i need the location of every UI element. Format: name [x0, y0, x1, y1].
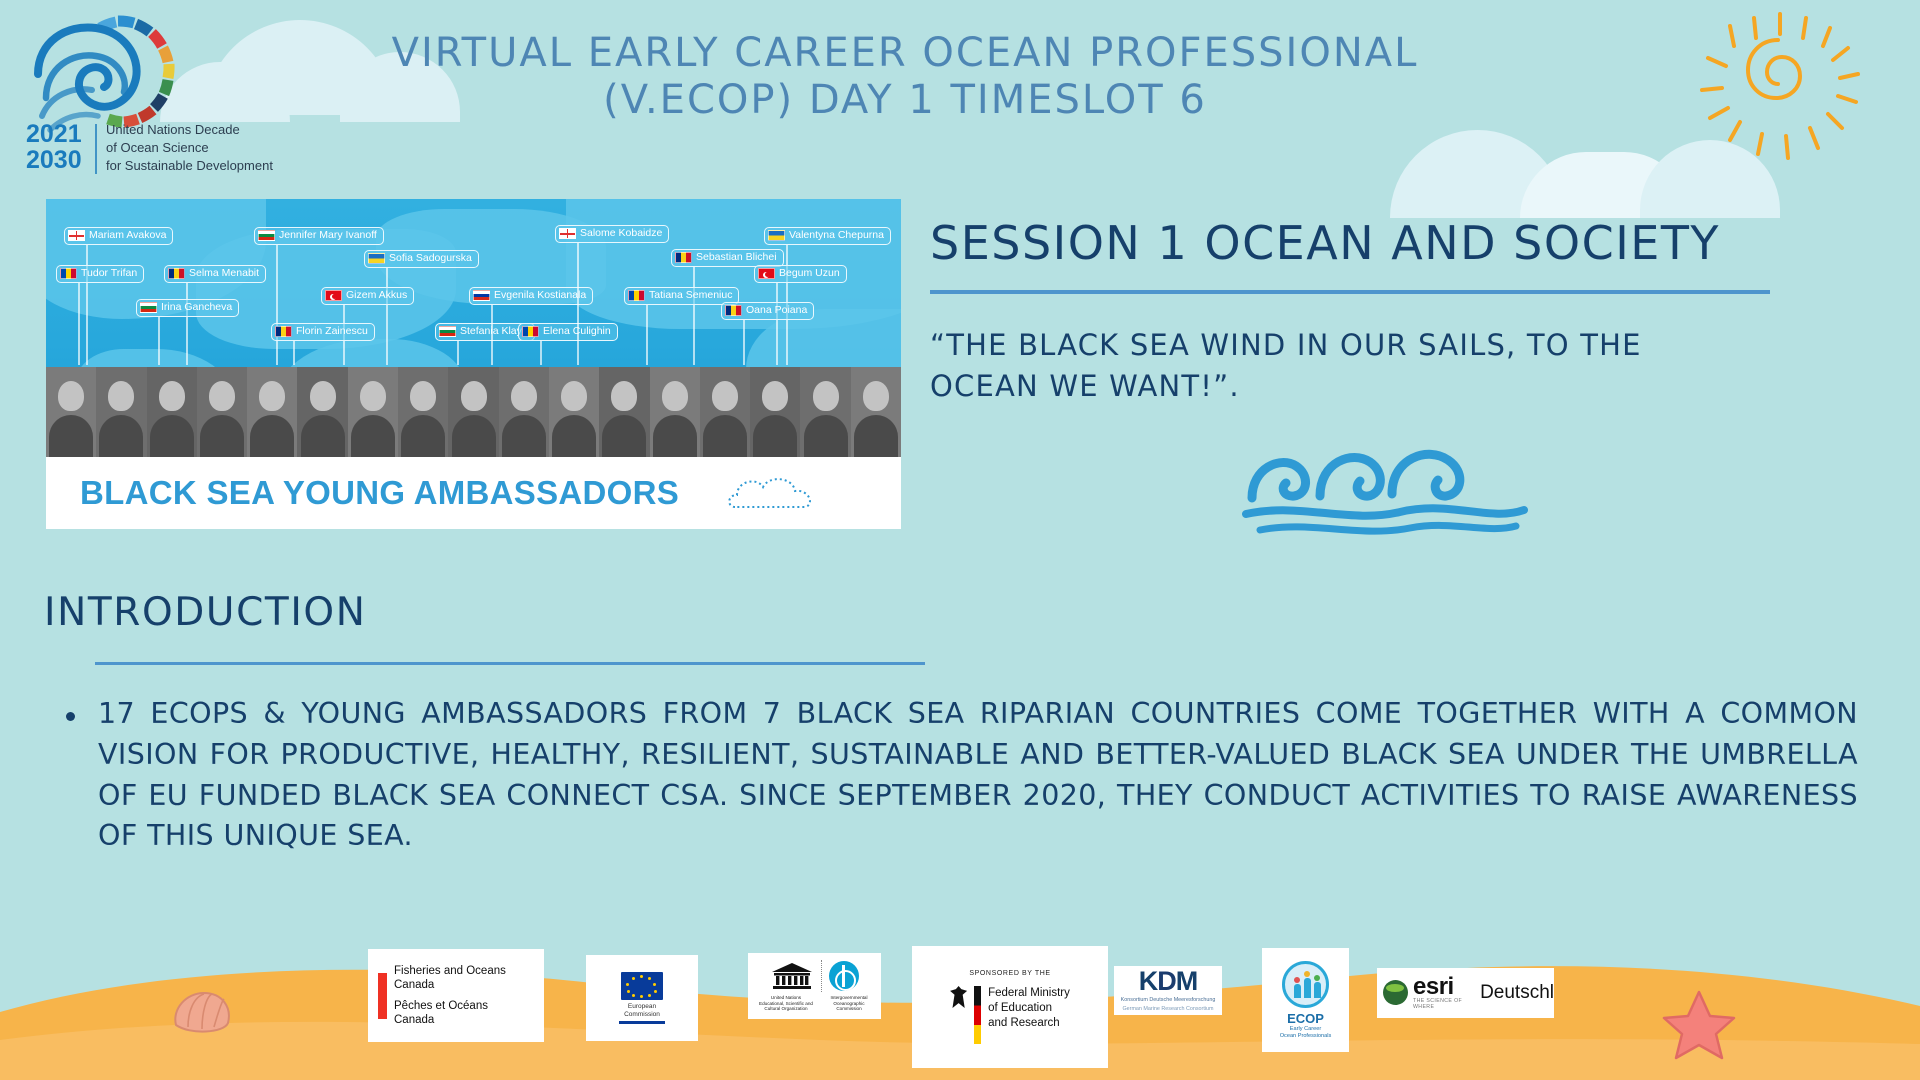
ec-label-line-1: European	[624, 1003, 660, 1010]
logo-esri-deutschland: esri THE SCIENCE OF WHERE Deutschl	[1377, 968, 1554, 1018]
ambassador-name-tag: Sebastian Blichei	[671, 249, 784, 267]
ioc-caption-line-1: Intergovernmental	[827, 995, 871, 1001]
german-eagle-icon	[950, 986, 967, 1008]
name-tag-leader-line	[540, 341, 542, 365]
country-flag-icon	[325, 290, 342, 301]
ambassador-name-tag: Mariam Avakova	[64, 227, 173, 245]
intro-body-text: 17 ECOPs & Young Ambassadors from 7 Blac…	[98, 694, 1858, 857]
name-tag-leader-line	[386, 268, 388, 365]
name-tag-leader-line	[78, 283, 80, 365]
svg-text:2021: 2021	[26, 120, 82, 148]
logo-kdm: KDM Konsortium Deutsche Meeresforschung …	[1114, 966, 1222, 1015]
deck-title-line-2: (V.ECOP) Day 1 Timeslot 6	[330, 77, 1480, 124]
ambassador-portrait	[750, 367, 800, 457]
ambassador-name-label: Jennifer Mary Ivanoff	[279, 230, 377, 242]
ambassadors-caption-text: BLACK SEA YOUNG AMBASSADORS	[80, 474, 679, 512]
ambassador-name-label: Oana Poiana	[746, 305, 807, 317]
esri-wordmark: esri	[1413, 976, 1475, 999]
country-flag-icon	[628, 290, 645, 301]
dfo-english-line-2: Canada	[394, 978, 506, 992]
ec-label-line-2: Commission	[624, 1011, 660, 1018]
ambassador-portrait	[448, 367, 498, 457]
ambassador-name-tag: Irina Gancheva	[136, 299, 239, 317]
kdm-subtitle-en: German Marine Research Consortium	[1122, 1006, 1213, 1013]
sun-icon	[1690, 12, 1865, 172]
country-flag-icon	[60, 268, 77, 279]
esri-suffix: Deutschl	[1480, 982, 1554, 1004]
ioc-logo-icon	[829, 961, 859, 991]
dfo-english-line-1: Fisheries and Oceans	[394, 964, 506, 978]
ambassador-name-label: Tudor Trifan	[81, 268, 137, 280]
ioc-caption-line-3: Commission	[827, 1006, 871, 1012]
name-tag-leader-line	[646, 305, 648, 365]
bullet-point-marker	[66, 712, 75, 721]
name-tag-leader-line	[491, 305, 493, 365]
ambassador-portrait	[599, 367, 649, 457]
logo-european-commission: European Commission	[586, 955, 698, 1041]
country-flag-icon	[168, 268, 185, 279]
name-tag-leader-line	[693, 267, 695, 365]
ambassador-portrait	[96, 367, 146, 457]
eu-flag-icon	[621, 972, 663, 1000]
kdm-subtitle-de: Konsortium Deutsche Meeresforschung	[1121, 997, 1216, 1004]
ambassador-name-tag: Sofia Sadogurska	[364, 250, 479, 268]
ecop-circle-icon	[1282, 961, 1329, 1008]
ambassador-name-label: Sofia Sadogurska	[389, 253, 472, 265]
bmbf-line-1: Federal Ministry	[988, 986, 1070, 1001]
ambassador-name-label: Sebastian Blichei	[696, 252, 777, 264]
dotted-cloud-icon	[725, 473, 821, 517]
ambassador-name-tag: Oana Poiana	[721, 302, 814, 320]
ambassador-portrait	[197, 367, 247, 457]
name-tag-leader-line	[776, 283, 778, 365]
ambassador-name-label: Gizem Akkus	[346, 290, 407, 302]
esri-globe-icon	[1383, 980, 1408, 1005]
ambassador-name-tag: Begum Uzun	[754, 265, 847, 283]
canada-red-bar	[378, 973, 387, 1019]
intro-heading: Introduction	[44, 590, 367, 635]
ec-underline	[619, 1021, 665, 1024]
country-flag-icon	[675, 252, 692, 263]
ambassador-portrait	[297, 367, 347, 457]
ambassador-name-label: Irina Gancheva	[161, 302, 232, 314]
unesco-caption-line-3: Cultural Organization	[758, 1006, 814, 1012]
un-ocean-decade-logo: 2021 2030 United Nations Decade of Ocean…	[20, 12, 290, 187]
ambassador-name-label: Begum Uzun	[779, 268, 840, 280]
ambassador-name-label: Salome Kobaidze	[580, 228, 662, 240]
ambassador-name-tag: Jennifer Mary Ivanoff	[254, 227, 384, 245]
name-tag-leader-line	[186, 283, 188, 365]
ambassador-name-label: Evgenila Kostianala	[494, 290, 586, 302]
ambassador-portrait	[549, 367, 599, 457]
dfo-french-line-1: Pêches et Océans	[394, 999, 506, 1013]
country-flag-icon	[758, 268, 775, 279]
ambassador-name-tag: Salome Kobaidze	[555, 225, 669, 243]
name-tag-leader-line	[86, 245, 88, 365]
wave-icon	[1240, 440, 1530, 540]
svg-text:for Sustainable Development: for Sustainable Development	[106, 158, 273, 173]
ambassador-portrait	[398, 367, 448, 457]
seashell-icon	[168, 985, 236, 1037]
ambassador-portrait	[46, 367, 96, 457]
starfish-icon	[1660, 988, 1738, 1062]
svg-text:2030: 2030	[26, 146, 82, 174]
ambassador-portrait	[147, 367, 197, 457]
session-title: Session 1 Ocean and Society	[930, 218, 1810, 269]
ambassador-name-tag: Tudor Trifan	[56, 265, 144, 283]
deck-title-line-1: Virtual Early Career Ocean Professional	[330, 30, 1480, 77]
country-flag-icon	[275, 326, 292, 337]
ambassador-name-tag: Valentyna Chepurna	[764, 227, 891, 245]
ambassador-portrait	[851, 367, 901, 457]
country-flag-icon	[140, 302, 157, 313]
kdm-acronym: KDM	[1139, 968, 1198, 995]
logo-ecop: ECOP Early Career Ocean Professionals	[1262, 948, 1349, 1052]
country-flag-icon	[258, 230, 275, 241]
country-flag-icon	[768, 230, 785, 241]
ambassador-name-label: Florin Zainescu	[296, 326, 368, 338]
black-sea-ambassadors-card: Mariam AvakovaTudor TrifanSelma MenabitI…	[46, 199, 901, 529]
ambassador-name-tag: Evgenila Kostianala	[469, 287, 593, 305]
ambassador-name-tag: Selma Menabit	[164, 265, 266, 283]
ambassador-portrait	[499, 367, 549, 457]
svg-text:United Nations Decade: United Nations Decade	[106, 122, 240, 137]
bmbf-line-2: of Education	[988, 1001, 1070, 1016]
logo-fisheries-oceans-canada: Fisheries and Oceans Canada Pêches et Oc…	[368, 949, 544, 1042]
ambassador-name-label: Valentyna Chepurna	[789, 230, 884, 242]
esri-tagline: THE SCIENCE OF WHERE	[1413, 998, 1475, 1010]
name-tag-leader-line	[276, 245, 278, 365]
session-quote: “The Black Sea wind in our sails, to the…	[930, 325, 1750, 407]
german-flag-bar	[974, 986, 981, 1044]
ecop-acronym: ECOP	[1287, 1011, 1324, 1026]
ambassador-name-label: Tatiana Semeniuc	[649, 290, 732, 302]
bmbf-line-3: and Research	[988, 1016, 1070, 1031]
ambassador-name-tag: Elena Culighin	[518, 323, 618, 341]
ambassador-portrait	[700, 367, 750, 457]
logo-bmbf-federal-ministry: SPONSORED BY THE Federal Ministry of Edu…	[912, 946, 1108, 1068]
ambassador-portrait	[348, 367, 398, 457]
country-flag-icon	[522, 326, 539, 337]
ambassador-name-label: Selma Menabit	[189, 268, 259, 280]
logo-unesco-ioc: United Nations Educational, Scientific a…	[748, 953, 881, 1019]
ambassador-portrait	[650, 367, 700, 457]
country-flag-icon	[68, 230, 85, 241]
svg-text:of Ocean Science: of Ocean Science	[106, 140, 209, 155]
country-flag-icon	[473, 290, 490, 301]
ambassador-portrait	[247, 367, 297, 457]
name-tag-leader-line	[743, 320, 745, 365]
ecop-subtitle-2: Ocean Professionals	[1280, 1033, 1332, 1040]
country-flag-icon	[368, 253, 385, 264]
sponsored-by-label: SPONSORED BY THE	[969, 970, 1050, 977]
name-tag-leader-line	[158, 317, 160, 365]
page-title: Virtual Early Career Ocean Professional …	[330, 30, 1480, 124]
unesco-temple-icon	[770, 961, 814, 991]
dfo-french-line-2: Canada	[394, 1013, 506, 1027]
name-tag-leader-line	[457, 341, 459, 365]
ambassador-name-tag: Florin Zainescu	[271, 323, 375, 341]
name-tag-leader-line	[577, 243, 579, 365]
ambassador-name-label: Mariam Avakova	[89, 230, 166, 242]
country-flag-icon	[559, 228, 576, 239]
name-tag-leader-line	[293, 341, 295, 365]
ecop-subtitle-1: Early Career	[1280, 1026, 1332, 1033]
intro-divider	[95, 662, 925, 665]
ambassadors-caption-bar: BLACK SEA YOUNG AMBASSADORS	[46, 457, 901, 529]
country-flag-icon	[725, 305, 742, 316]
ambassador-name-tag: Gizem Akkus	[321, 287, 414, 305]
country-flag-icon	[439, 326, 456, 337]
session-divider	[930, 290, 1770, 294]
ambassador-portrait	[800, 367, 850, 457]
ambassador-photo-strip	[46, 367, 901, 457]
